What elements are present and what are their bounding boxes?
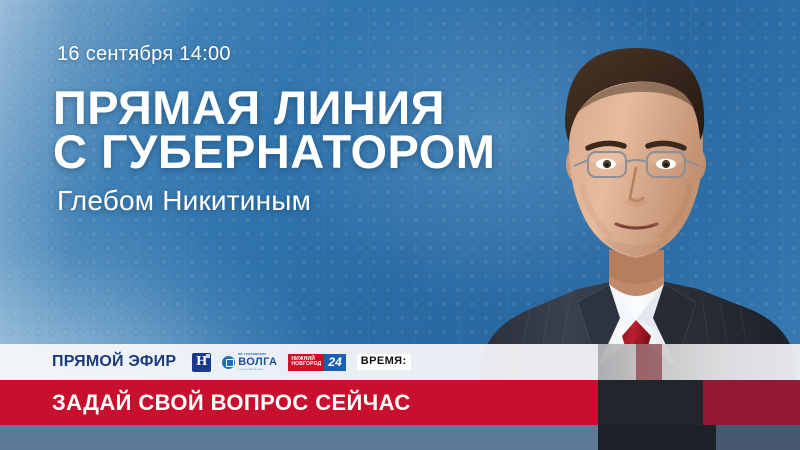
portrait-overlap-bottom-strip xyxy=(598,425,716,450)
portrait-overlap-bottom-strip-right xyxy=(716,425,800,450)
nntv-logo-corner-mark xyxy=(206,354,210,358)
nn24-logo-city-line2: НОВГОРОД xyxy=(291,362,321,367)
nn24-logo-channel-number: 24 xyxy=(324,354,345,371)
volga-logo-text: на телеканале ВОЛГА телекомпания xyxy=(238,353,277,371)
vremya-logo[interactable]: ВРЕМЯ: xyxy=(357,354,411,370)
call-to-action-text: ЗАДАЙ СВОЙ ВОПРОС СЕЙЧАС xyxy=(52,380,411,425)
volga-logo[interactable]: на телеканале ВОЛГА телекомпания xyxy=(222,353,277,371)
nn24-logo-city: НИЖНИЙ НОВГОРОД xyxy=(288,354,324,371)
portrait-overlap-cta-band xyxy=(598,380,703,425)
portrait-overlap-logo-band xyxy=(598,344,800,380)
volga-logo-name: ВОЛГА xyxy=(238,357,277,368)
page-title: ПРЯМАЯ ЛИНИЯ С ГУБЕРНАТОРОМ xyxy=(53,86,573,173)
headline-block: 16 сентября 14:00 ПРЯМАЯ ЛИНИЯ С ГУБЕРНА… xyxy=(53,44,573,215)
volga-logo-tagline-top: на телеканале xyxy=(238,353,279,356)
portrait-overlap-cta-band-right xyxy=(703,380,800,425)
partner-logo-list: Н на телеканале ВОЛГА телекомпания НИЖНИ… xyxy=(192,353,410,372)
bottom-strip xyxy=(0,425,800,450)
volga-logo-mark-icon xyxy=(222,356,235,369)
nn24-logo[interactable]: НИЖНИЙ НОВГОРОД 24 xyxy=(288,354,345,371)
volga-logo-tagline-bottom: телекомпания xyxy=(238,368,277,371)
event-datetime: 16 сентября 14:00 xyxy=(57,44,573,64)
title-line-2: С ГУБЕРНАТОРОМ xyxy=(53,130,573,174)
nntv-logo[interactable]: Н xyxy=(192,353,211,372)
live-broadcast-label: ПРЯМОЙ ЭФИР xyxy=(52,353,176,371)
broadcast-announcement-poster: 16 сентября 14:00 ПРЯМАЯ ЛИНИЯ С ГУБЕРНА… xyxy=(0,0,800,450)
portrait-tie-overlap-logo-band xyxy=(636,344,662,380)
page-subtitle: Глебом Никитиным xyxy=(57,187,573,215)
